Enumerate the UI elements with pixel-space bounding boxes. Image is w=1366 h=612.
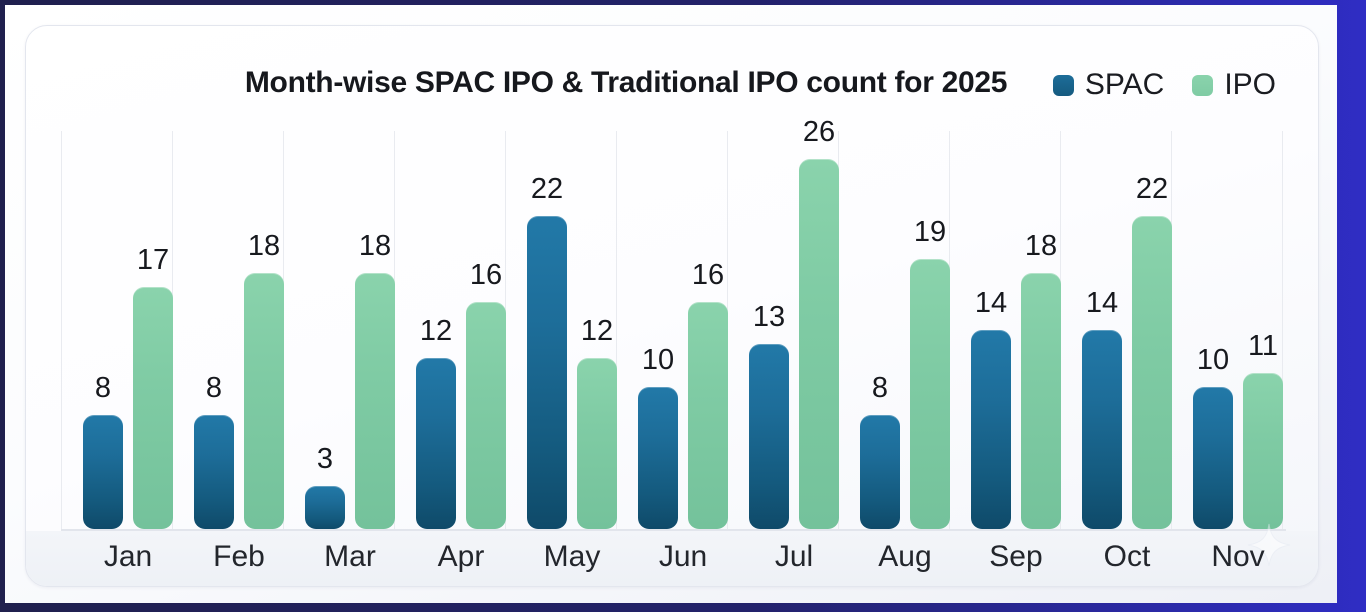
legend-label-spac: SPAC [1085,70,1164,100]
bar[interactable] [749,344,789,529]
bar-value-label: 13 [735,303,803,332]
legend-label-ipo: IPO [1224,70,1276,100]
bar[interactable] [83,415,123,529]
bar-value-label: 22 [1118,175,1186,204]
bar-value-label: 22 [513,175,581,204]
bar-value-label: 14 [1068,289,1136,318]
bar[interactable] [355,273,395,529]
legend-swatch-ipo [1192,75,1213,96]
page-title: Month-wise SPAC IPO & Traditional IPO co… [186,66,1066,100]
bar[interactable] [416,358,456,529]
bar-value-label: 12 [563,317,631,346]
bar[interactable] [910,259,950,529]
bar[interactable] [1021,273,1061,529]
bar-value-label: 8 [69,374,137,403]
bar[interactable] [305,486,345,529]
bar[interactable] [971,330,1011,529]
bar-value-label: 14 [957,289,1025,318]
bar[interactable] [799,159,839,529]
bar-value-label: 18 [1007,232,1075,261]
chart-card: Month-wise SPAC IPO & Traditional IPO co… [25,25,1319,587]
bar-value-label: 16 [452,261,520,290]
legend-swatch-spac [1053,75,1074,96]
bar-value-label: 8 [846,374,914,403]
bar-value-label: 17 [119,246,187,275]
bar-value-label: 10 [624,346,692,375]
bar-value-label: 18 [341,232,409,261]
bar[interactable] [638,387,678,529]
bar-value-label: 26 [785,118,853,147]
gridline [61,131,62,529]
bar-value-label: 3 [291,445,359,474]
bar-value-label: 18 [230,232,298,261]
bar[interactable] [244,273,284,529]
screenshot-root: Month-wise SPAC IPO & Traditional IPO co… [0,0,1366,612]
page-surface: Month-wise SPAC IPO & Traditional IPO co… [5,5,1337,603]
legend-item-spac[interactable]: SPAC [1053,70,1164,100]
plot-area: 8178183181216221210161326819141814221011 [61,131,1283,529]
bar[interactable] [860,415,900,529]
bar[interactable] [133,287,173,529]
bar[interactable] [577,358,617,529]
bar[interactable] [688,302,728,529]
bar[interactable] [194,415,234,529]
legend-item-ipo[interactable]: IPO [1192,70,1276,100]
bar[interactable] [1132,216,1172,529]
bar[interactable] [1243,373,1283,529]
bar-value-label: 19 [896,218,964,247]
bar-value-label: 11 [1229,332,1297,361]
bar[interactable] [1193,387,1233,529]
chart-legend: SPAC IPO [1053,70,1276,100]
bar[interactable] [1082,330,1122,529]
bar-value-label: 8 [180,374,248,403]
bar[interactable] [527,216,567,529]
bar-value-label: 12 [402,317,470,346]
x-axis-baseline [61,529,1286,531]
bar[interactable] [466,302,506,529]
bar-value-label: 16 [674,261,742,290]
x-axis-label-nov: Nov [1168,542,1308,572]
